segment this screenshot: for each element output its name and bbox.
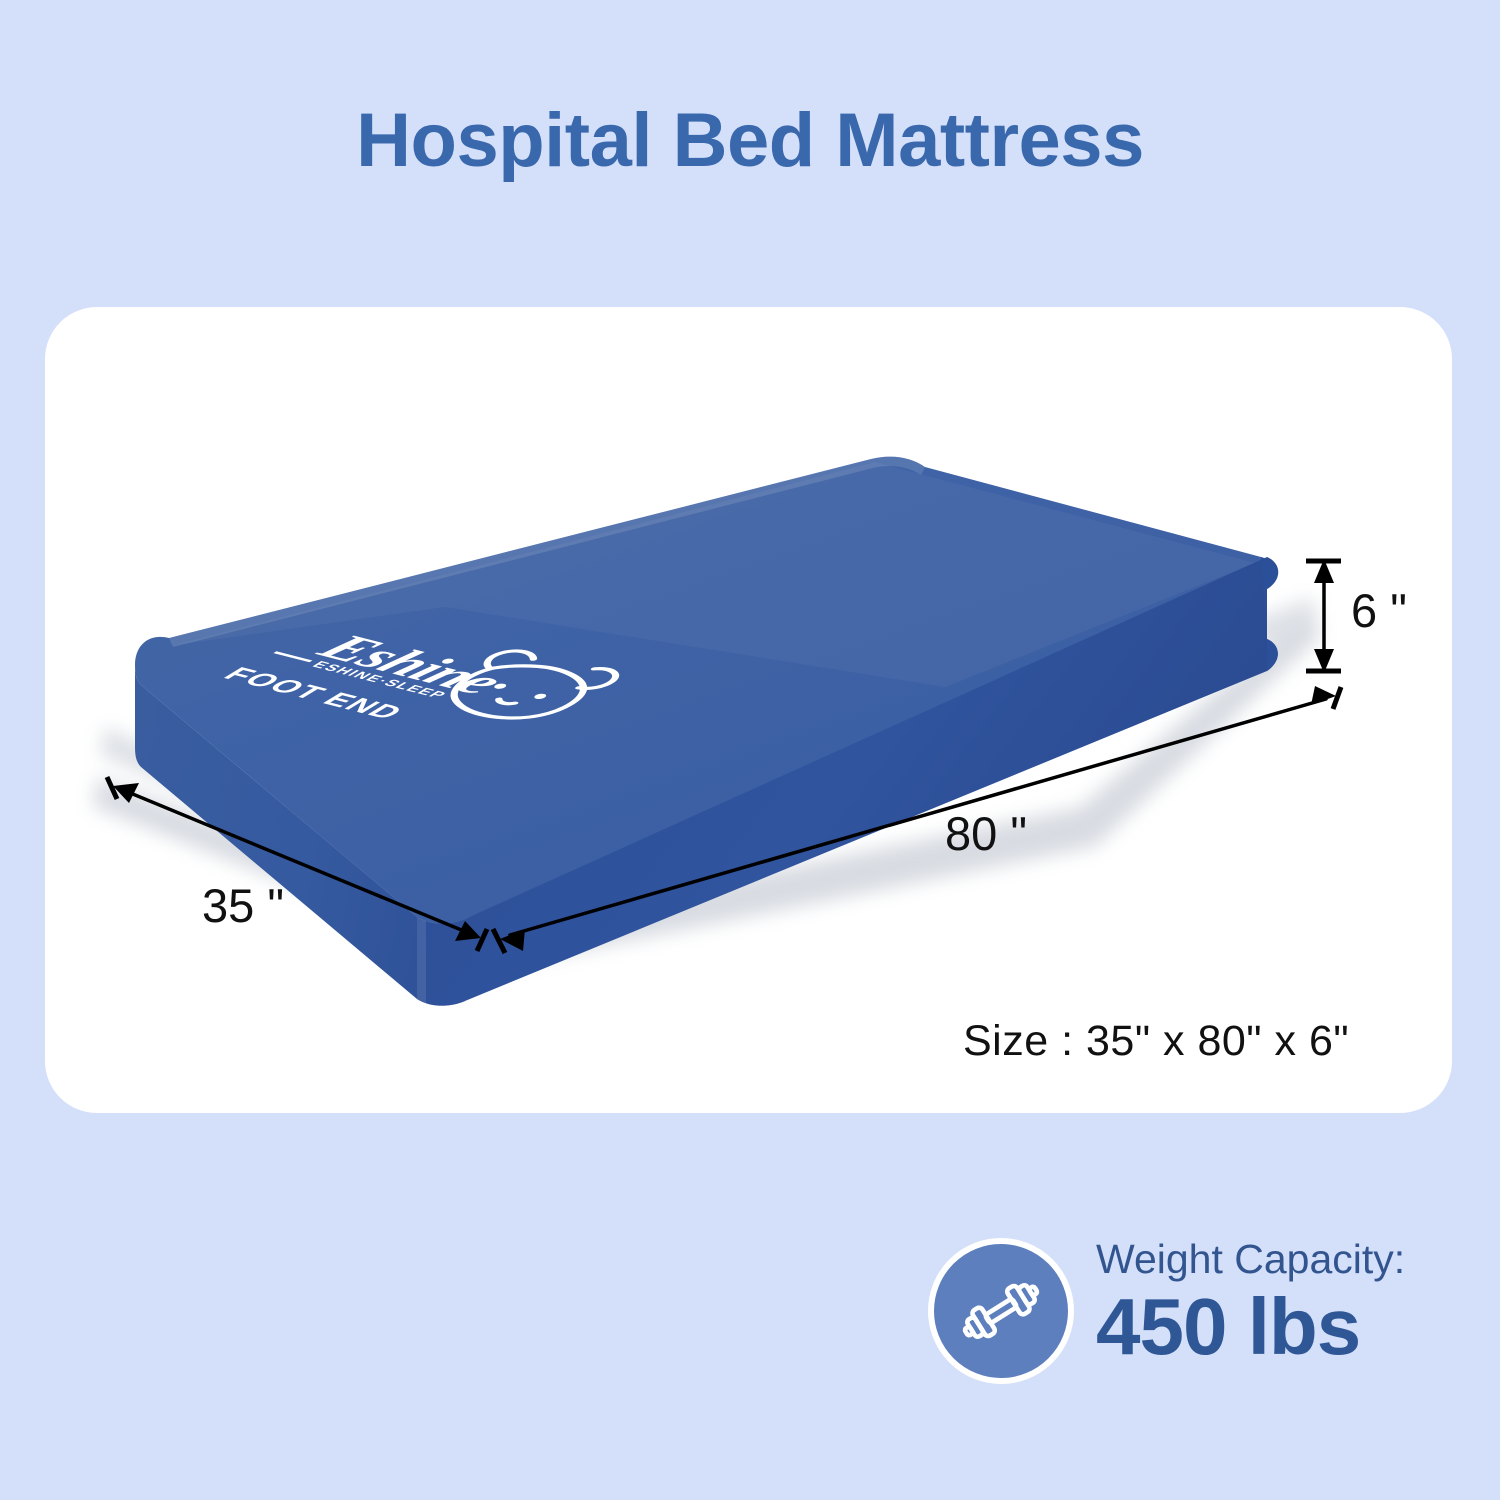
size-summary: Size : 35" x 80" x 6": [963, 1017, 1349, 1066]
weight-capacity-text: Weight Capacity: 450 lbs: [1096, 1238, 1405, 1369]
dumbbell-icon: [957, 1267, 1045, 1355]
mattress-illustration: Eshine ESHINE·SLEEP FOOT END: [45, 307, 1452, 1113]
weight-capacity-value: 450 lbs: [1096, 1285, 1405, 1369]
product-image-card: Eshine ESHINE·SLEEP FOOT END: [45, 307, 1452, 1113]
weight-capacity-badge: [928, 1238, 1074, 1384]
weight-capacity-label: Weight Capacity:: [1096, 1238, 1405, 1281]
width-dimension-label: 35 ": [202, 879, 284, 932]
page-title: Hospital Bed Mattress: [0, 103, 1500, 179]
mattress-corner-highlight: [417, 917, 426, 1004]
length-dimension-label: 80 ": [945, 807, 1027, 860]
weight-capacity-block: Weight Capacity: 450 lbs: [928, 1238, 1388, 1398]
height-dimension-label: 6 ": [1351, 584, 1407, 637]
